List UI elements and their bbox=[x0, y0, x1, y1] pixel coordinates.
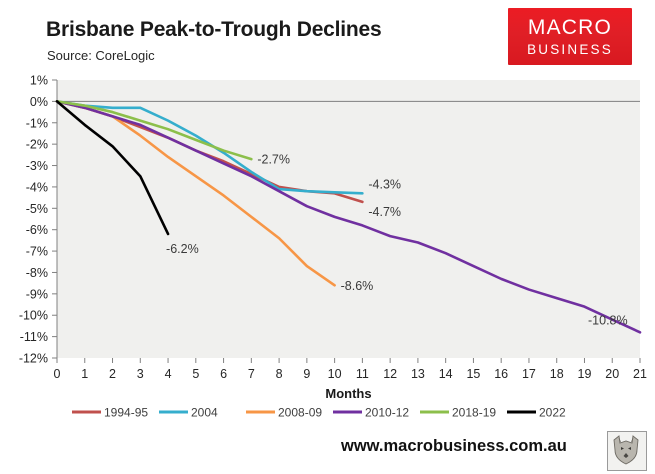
x-axis-tick-label: 19 bbox=[578, 367, 592, 381]
line-chart: 1%0%-1%-2%-3%-4%-5%-6%-7%-8%-9%-10%-11%-… bbox=[0, 0, 655, 474]
y-axis-tick-label: -9% bbox=[26, 287, 48, 301]
y-axis-tick-label: -4% bbox=[26, 180, 48, 194]
x-axis-tick-label: 18 bbox=[550, 367, 564, 381]
legend-item-2010-12[interactable]: 2010-12 bbox=[333, 406, 409, 420]
y-axis: 1%0%-1%-2%-3%-4%-5%-6%-7%-8%-9%-10%-11%-… bbox=[19, 74, 57, 366]
x-axis-tick-label: 10 bbox=[328, 367, 342, 381]
x-axis-tick-label: 0 bbox=[54, 367, 61, 381]
data-label-2010-12: -10.8% bbox=[588, 313, 628, 327]
data-label-2008-09: -8.6% bbox=[341, 279, 374, 293]
y-axis-tick-label: -6% bbox=[26, 223, 48, 237]
x-axis-tick-label: 13 bbox=[411, 367, 425, 381]
y-axis-tick-label: -2% bbox=[26, 138, 48, 152]
y-axis-tick-label: 0% bbox=[30, 95, 48, 109]
legend-label-2004: 2004 bbox=[191, 406, 218, 420]
website-url: www.macrobusiness.com.au bbox=[341, 437, 567, 456]
y-axis-tick-label: -3% bbox=[26, 159, 48, 173]
y-axis-tick-label: -7% bbox=[26, 245, 48, 259]
legend-item-1994-95[interactable]: 1994-95 bbox=[72, 406, 148, 420]
x-axis-tick-label: 6 bbox=[220, 367, 227, 381]
x-axis-tick-label: 1 bbox=[81, 367, 88, 381]
x-axis-tick-label: 4 bbox=[165, 367, 172, 381]
y-axis-tick-label: -11% bbox=[20, 330, 48, 344]
data-label-2018-19: -2.7% bbox=[257, 153, 290, 167]
y-axis-tick-label: -8% bbox=[26, 266, 48, 280]
chart-page: Brisbane Peak-to-Trough Declines Source:… bbox=[0, 0, 655, 474]
x-axis-tick-label: 8 bbox=[276, 367, 283, 381]
x-axis-tick-label: 9 bbox=[303, 367, 310, 381]
legend-item-2018-19[interactable]: 2018-19 bbox=[420, 406, 496, 420]
x-axis-tick-label: 16 bbox=[494, 367, 508, 381]
legend-label-2018-19: 2018-19 bbox=[452, 406, 496, 420]
x-axis-title: Months bbox=[325, 386, 371, 401]
x-axis-tick-label: 12 bbox=[383, 367, 397, 381]
x-axis-tick-label: 15 bbox=[466, 367, 480, 381]
wolf-head-logo bbox=[607, 431, 647, 471]
legend-item-2008-09[interactable]: 2008-09 bbox=[246, 406, 322, 420]
y-axis-tick-label: -1% bbox=[26, 116, 48, 130]
y-axis-tick-label: 1% bbox=[30, 74, 48, 88]
x-axis-tick-label: 21 bbox=[633, 367, 647, 381]
legend-label-1994-95: 1994-95 bbox=[104, 406, 148, 420]
legend-item-2022[interactable]: 2022 bbox=[507, 406, 566, 420]
data-label-2022: -6.2% bbox=[166, 242, 199, 256]
legend-label-2022: 2022 bbox=[539, 406, 566, 420]
x-axis-tick-label: 7 bbox=[248, 367, 255, 381]
y-axis-tick-label: -5% bbox=[26, 202, 48, 216]
data-label-2004: -4.3% bbox=[368, 177, 401, 191]
legend-item-2004[interactable]: 2004 bbox=[159, 406, 218, 420]
wolf-head-icon bbox=[608, 432, 644, 468]
x-axis: 0123456789101112131415161718192021 bbox=[54, 358, 647, 381]
y-axis-tick-label: -10% bbox=[19, 309, 48, 323]
data-label-1994-95: -4.7% bbox=[368, 205, 401, 219]
x-axis-tick-label: 20 bbox=[605, 367, 619, 381]
legend-label-2008-09: 2008-09 bbox=[278, 406, 322, 420]
x-axis-tick-label: 14 bbox=[439, 367, 453, 381]
x-axis-tick-label: 11 bbox=[356, 367, 369, 381]
x-axis-tick-label: 17 bbox=[522, 367, 536, 381]
legend-label-2010-12: 2010-12 bbox=[365, 406, 409, 420]
x-axis-tick-label: 2 bbox=[109, 367, 116, 381]
x-axis-tick-label: 3 bbox=[137, 367, 144, 381]
x-axis-tick-label: 5 bbox=[192, 367, 199, 381]
y-axis-tick-label: -12% bbox=[19, 352, 48, 366]
